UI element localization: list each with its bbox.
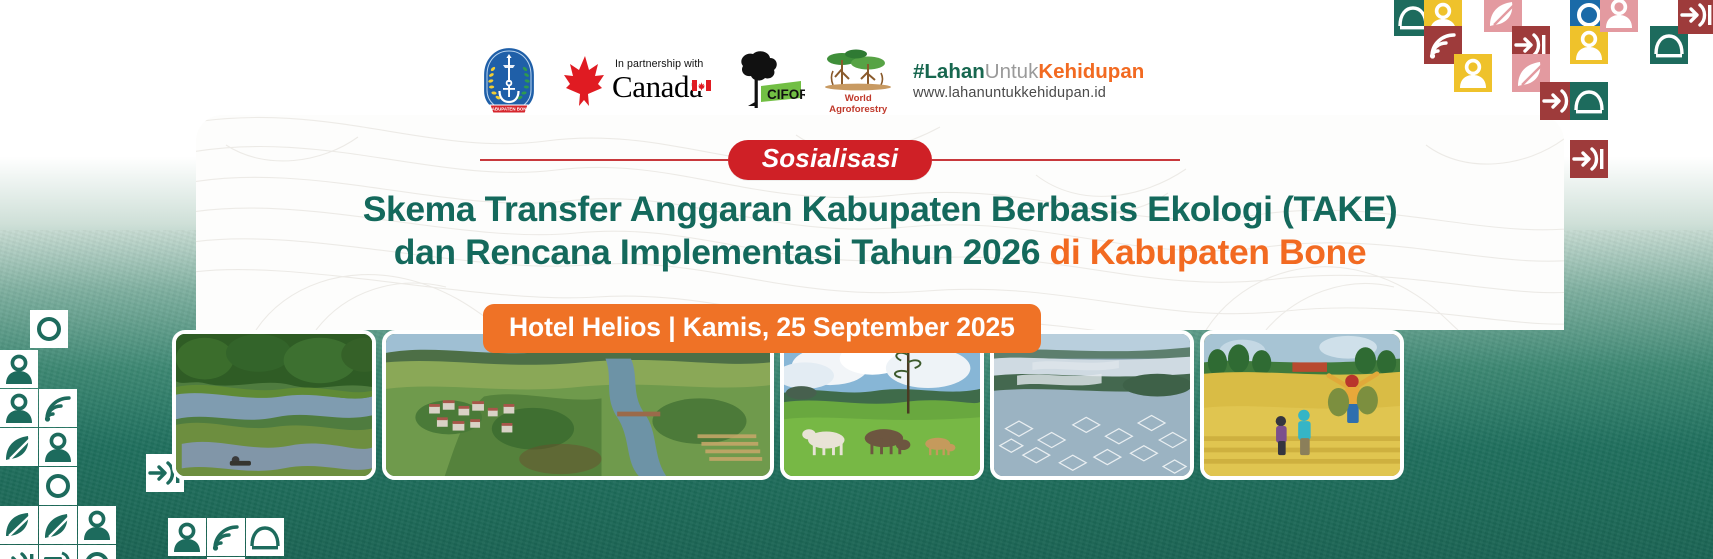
agroforestry-label-line1: World (845, 94, 872, 104)
title-line-2-orange-text: di Kabupaten Bone (1050, 232, 1367, 272)
hashtag-part-untuk: Untuk (985, 60, 1039, 83)
photo-village-aerial-river-image (386, 334, 770, 476)
tile-wifi-icon (207, 518, 245, 556)
page-title: Skema Transfer Anggaran Kabupaten Berbas… (196, 188, 1564, 275)
website-url[interactable]: www.lahanuntukkehidupan.id (913, 85, 1106, 101)
logo-kabupaten-bone: KABUPATEN BONE (465, 44, 553, 118)
canada-wordmark: Canada (612, 70, 703, 103)
title-line-1-text: Skema Transfer Anggaran Kabupaten Berbas… (363, 189, 1398, 229)
photo-rice-harvest-farmers-image (1204, 334, 1400, 476)
tile-circle-icon (78, 545, 116, 559)
cifor-label: CIFOR (767, 87, 805, 102)
title-line-2: dan Rencana Implementasi Tahun 2026 di K… (196, 231, 1564, 274)
tile-bridge-icon (246, 518, 284, 556)
tile-person-icon (168, 518, 206, 556)
tile-leaf-icon (0, 428, 38, 466)
title-line-1: Skema Transfer Anggaran Kabupaten Berbas… (196, 188, 1564, 231)
logo-row: KABUPATEN BONE In partnership with Canad… (465, 44, 1105, 118)
tile-person-icon (1454, 54, 1492, 92)
banner-root: KABUPATEN BONE In partnership with Canad… (0, 0, 1713, 559)
sosialisasi-badge: Sosialisasi (728, 140, 933, 179)
tile-arrow-in-icon (1570, 140, 1608, 178)
tile-arrow-in-icon (1678, 0, 1713, 34)
tile-leaf-icon (39, 506, 77, 544)
venue-date-badge: Hotel Helios | Kamis, 25 September 2025 (483, 304, 1041, 353)
tile-person-icon (0, 389, 38, 427)
tile-circle-icon (39, 467, 77, 505)
tile-bridge-icon (1570, 82, 1608, 120)
tile-circle-icon (30, 310, 68, 348)
logo-government-of-canada: In partnership with Canada (553, 44, 720, 118)
canada-maple-leaf-icon (562, 48, 606, 114)
tile-arrow-in-icon (0, 545, 38, 559)
logo-world-agroforestry: World Agroforestry (811, 44, 905, 118)
divider-line-left (480, 159, 728, 161)
cifor-tree-icon: CIFOR (727, 48, 805, 114)
agroforestry-trees-icon (823, 47, 893, 93)
tile-person-icon (1600, 0, 1638, 32)
sosialisasi-ribbon: Sosialisasi (480, 142, 1180, 178)
tile-person-icon (78, 506, 116, 544)
emblem-caption: KABUPATEN BONE (488, 107, 529, 112)
title-line-2-green-text: dan Rencana Implementasi Tahun 2026 (394, 232, 1040, 272)
logo-lahan-untuk-kehidupan: #LahanUntukKehidupan www.lahanuntukkehid… (905, 44, 1105, 118)
divider-line-right (932, 159, 1180, 161)
hashtag-part-lahan: #Lahan (913, 60, 985, 83)
tile-flow-icon (39, 545, 77, 559)
photo-rice-harvest-farmers (1200, 330, 1404, 480)
tile-person-icon (0, 350, 38, 388)
photo-cattle-grazing-image (784, 334, 980, 476)
hashtag-part-kehidupan: Kehidupan (1038, 60, 1144, 83)
tile-leaf-icon (0, 506, 38, 544)
kabupaten-bone-emblem-icon: KABUPATEN BONE (478, 45, 540, 117)
canada-flag-icon (692, 80, 711, 91)
decorative-tiles-right (1378, 0, 1713, 170)
tile-wifi-icon (39, 389, 77, 427)
photo-rice-paddy-river-image (176, 334, 372, 476)
photo-fishponds-aquaculture-image (994, 334, 1190, 476)
logo-cifor: CIFOR (720, 44, 812, 118)
photo-rice-paddy-river (172, 330, 376, 480)
tile-person-icon (39, 428, 77, 466)
agroforestry-label-line2: Agroforestry (829, 105, 887, 115)
canada-partnership-label: In partnership with (615, 59, 703, 70)
